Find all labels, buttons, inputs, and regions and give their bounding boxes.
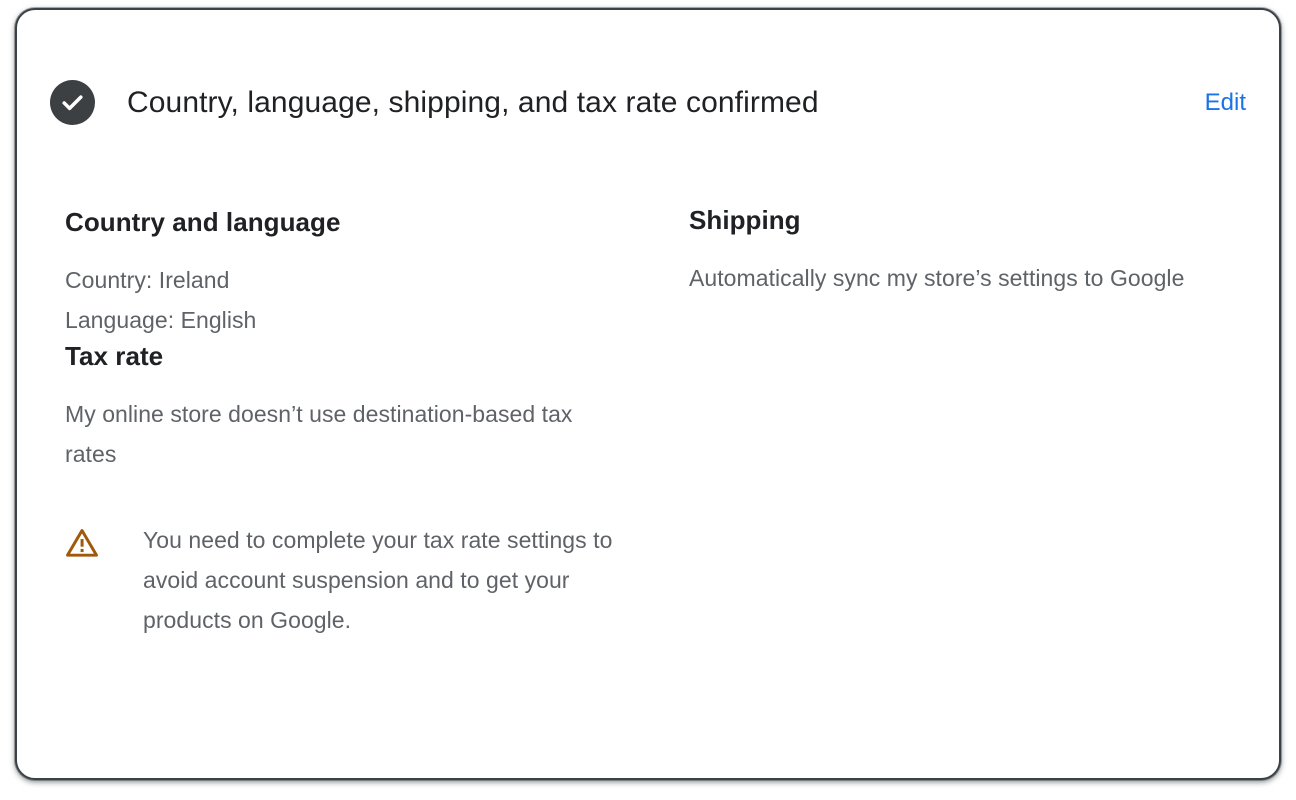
left-column: Country and language Country: Ireland La… (65, 206, 689, 640)
shipping-value: Automatically sync my store’s settings t… (689, 258, 1231, 298)
check-circle-icon (50, 80, 95, 125)
page-title: Country, language, shipping, and tax rat… (127, 84, 1189, 122)
warning-message: You need to complete your tax rate setti… (143, 520, 643, 640)
warning-triangle-icon (65, 526, 99, 560)
card-inner: Country, language, shipping, and tax rat… (17, 10, 1279, 778)
tax-rate-heading: Tax rate (65, 340, 689, 372)
section-tax-rate: Tax rate My online store doesn’t use des… (65, 340, 689, 640)
summary-columns: Country and language Country: Ireland La… (65, 206, 1231, 640)
tax-rate-warning: You need to complete your tax rate setti… (65, 520, 689, 640)
shipping-heading: Shipping (689, 204, 1231, 236)
section-shipping: Shipping Automatically sync my store’s s… (689, 204, 1231, 298)
page-root: Country, language, shipping, and tax rat… (0, 0, 1296, 800)
right-column: Shipping Automatically sync my store’s s… (689, 206, 1231, 298)
settings-summary-card: Country, language, shipping, and tax rat… (15, 8, 1281, 780)
country-value: Country: Ireland (65, 260, 689, 300)
language-value: Language: English (65, 300, 689, 340)
edit-link[interactable]: Edit (1189, 88, 1246, 118)
tax-rate-value: My online store doesn’t use destination-… (65, 394, 610, 474)
card-header: Country, language, shipping, and tax rat… (50, 80, 1246, 125)
country-language-heading: Country and language (65, 206, 689, 238)
section-country-language: Country and language Country: Ireland La… (65, 206, 689, 340)
